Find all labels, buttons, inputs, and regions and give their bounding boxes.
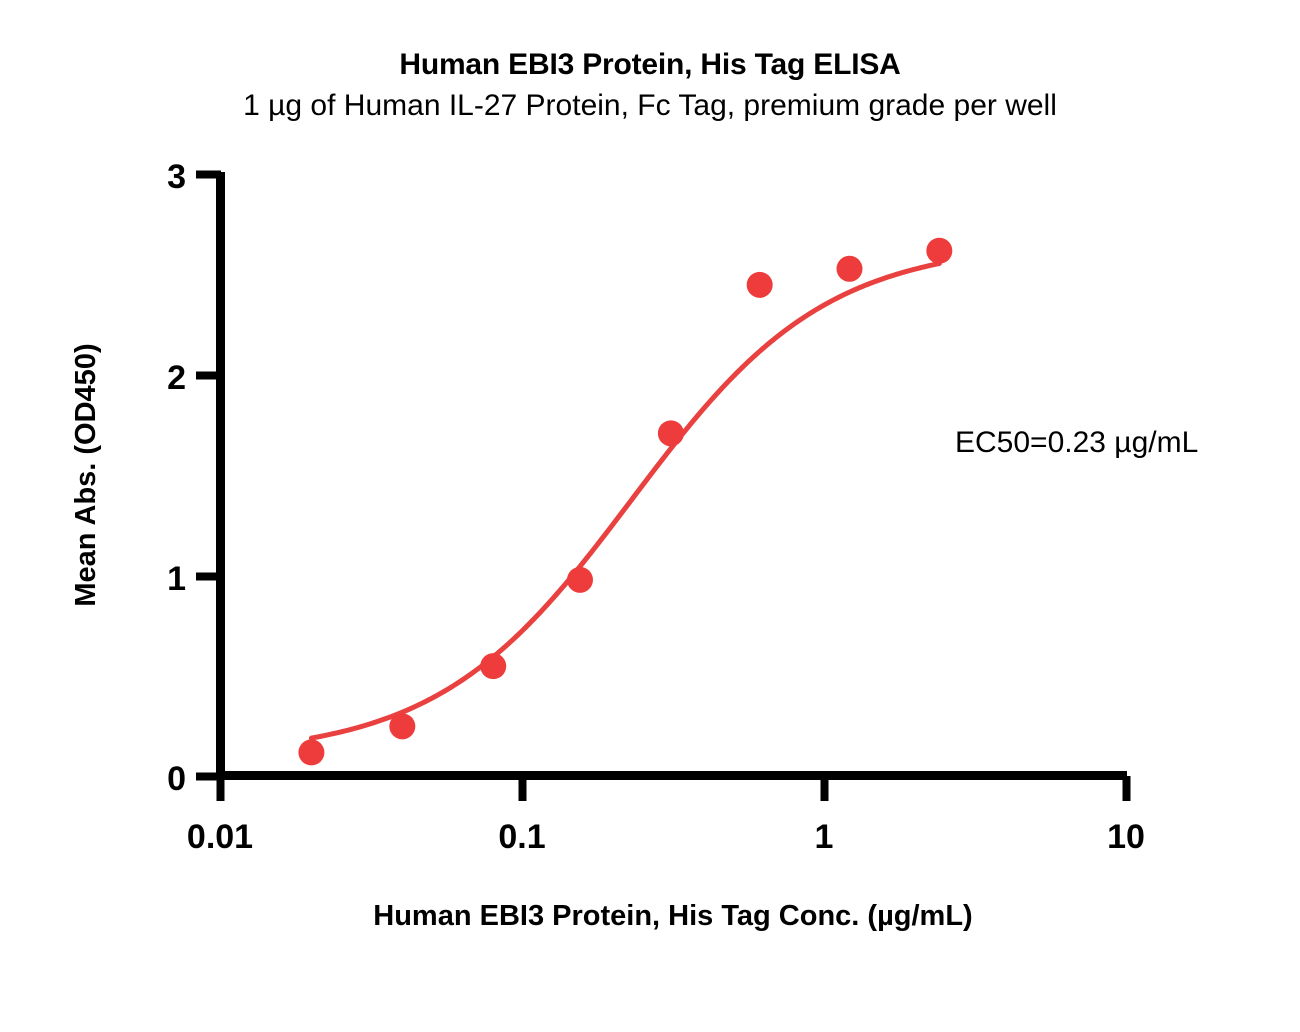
x-tick-label-0.1: 0.1 (498, 818, 545, 856)
y-tick-labels: 3 2 1 0 (167, 158, 186, 798)
x-tick-label-1: 1 (815, 818, 834, 856)
data-point (926, 238, 952, 264)
y-axis-label: Mean Abs. (OD450) (70, 343, 102, 606)
data-points (298, 238, 952, 766)
x-tick-labels: 0.01 0.1 1 10 (187, 818, 1145, 856)
axis-lines (216, 172, 1127, 779)
x-tick-label-0.01: 0.01 (187, 818, 253, 856)
ec50-annotation: EC50=0.23 µg/mL (955, 426, 1198, 459)
data-point (747, 272, 773, 298)
fit-curve (311, 264, 939, 739)
data-point (389, 713, 415, 739)
chart-figure: Human EBI3 Protein, His Tag ELISA 1 µg o… (0, 0, 1300, 1032)
y-tick-label-2: 2 (167, 359, 186, 397)
y-tick-label-0: 0 (167, 760, 186, 798)
data-point (567, 567, 593, 593)
y-tick-label-1: 1 (167, 560, 186, 598)
x-tick-label-10: 10 (1107, 818, 1145, 856)
data-point (480, 653, 506, 679)
x-axis-label: Human EBI3 Protein, His Tag Conc. (µg/mL… (373, 900, 972, 932)
data-point (837, 256, 863, 282)
plot-area: 3 2 1 0 0.01 0.1 1 10 Mean Abs. (OD450) … (0, 0, 1300, 1032)
data-point (658, 420, 684, 446)
y-tick-label-3: 3 (167, 158, 186, 196)
data-point (298, 739, 324, 765)
